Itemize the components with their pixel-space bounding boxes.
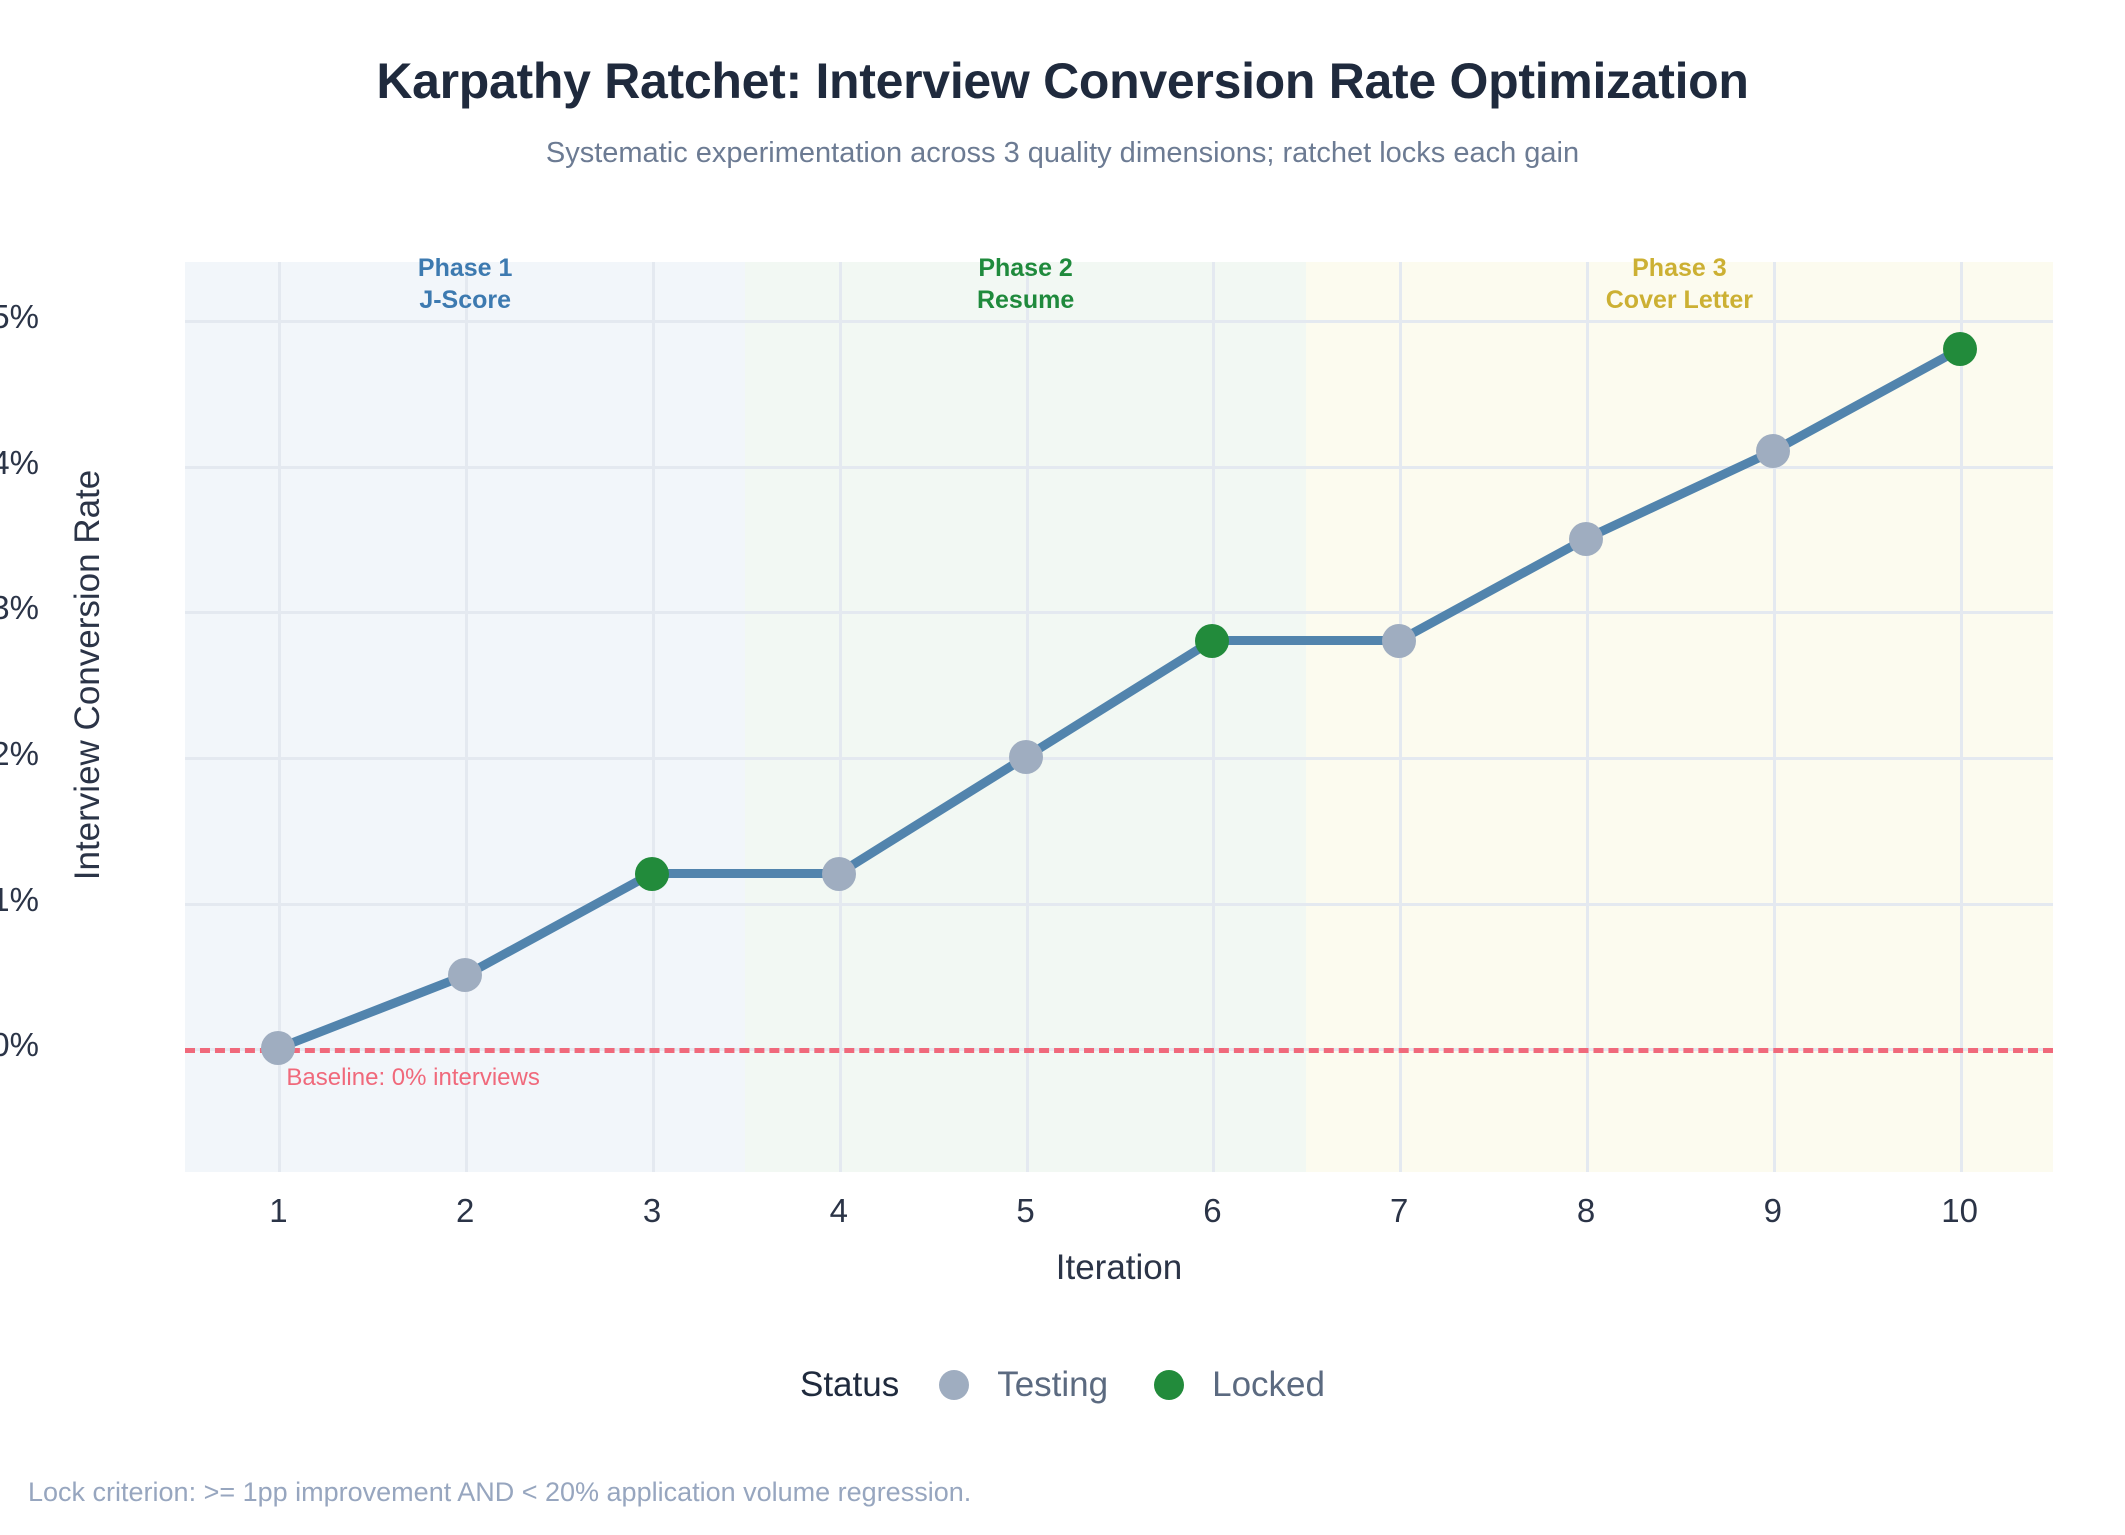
y-tick-label: 2%	[0, 735, 39, 773]
x-tick-label: 2	[405, 1192, 525, 1230]
x-axis-title: Iteration	[185, 1248, 2053, 1288]
x-tick-label: 7	[1339, 1192, 1459, 1230]
phase-label-3-sub: Cover Letter	[1479, 284, 1879, 316]
data-point-9[interactable]	[1756, 434, 1790, 468]
x-tick-label: 1	[218, 1192, 338, 1230]
x-tick-label: 3	[592, 1192, 712, 1230]
x-tick-label: 6	[1152, 1192, 1272, 1230]
y-tick-label: 4%	[0, 444, 39, 482]
x-tick-label: 4	[779, 1192, 899, 1230]
data-point-8[interactable]	[1569, 522, 1603, 556]
legend-items: TestingLocked	[939, 1365, 1325, 1405]
phase-label-1: Phase 1J-Score	[265, 252, 665, 316]
legend-title: Status	[800, 1365, 899, 1405]
data-point-2[interactable]	[448, 958, 482, 992]
phase-label-1-sub: J-Score	[265, 284, 665, 316]
legend-item-testing[interactable]: Testing	[939, 1365, 1108, 1405]
data-point-4[interactable]	[822, 857, 856, 891]
y-axis-title: Interview Conversion Rate	[68, 295, 108, 1055]
legend-label: Locked	[1212, 1365, 1325, 1405]
data-point-5[interactable]	[1009, 740, 1043, 774]
chart-title: Karpathy Ratchet: Interview Conversion R…	[0, 52, 2125, 110]
legend-label: Testing	[997, 1365, 1108, 1405]
legend-item-locked[interactable]: Locked	[1154, 1365, 1325, 1405]
legend-swatch-testing-icon	[939, 1370, 969, 1400]
x-tick-label: 5	[966, 1192, 1086, 1230]
conversion-rate-line	[278, 349, 1959, 1048]
chart-subtitle: Systematic experimentation across 3 qual…	[0, 137, 2125, 170]
footer-note: Lock criterion: >= 1pp improvement AND <…	[28, 1477, 971, 1508]
data-point-10[interactable]	[1943, 332, 1977, 366]
data-point-1[interactable]	[261, 1031, 295, 1065]
x-tick-label: 9	[1713, 1192, 1833, 1230]
plot-area: Baseline: 0% interviews Phase 1J-ScorePh…	[185, 262, 2053, 1172]
phase-label-2-sub: Resume	[826, 284, 1226, 316]
x-tick-label: 8	[1526, 1192, 1646, 1230]
y-tick-label: 1%	[0, 881, 39, 919]
x-tick-label: 10	[1900, 1192, 2020, 1230]
legend: Status TestingLocked	[0, 1365, 2125, 1405]
data-point-3[interactable]	[635, 857, 669, 891]
phase-label-1-title: Phase 1	[265, 252, 665, 284]
phase-label-3: Phase 3Cover Letter	[1479, 252, 1879, 316]
series-line	[185, 262, 2053, 1172]
phase-label-2: Phase 2Resume	[826, 252, 1226, 316]
legend-swatch-locked-icon	[1154, 1370, 1184, 1400]
data-point-7[interactable]	[1382, 624, 1416, 658]
data-point-6[interactable]	[1195, 624, 1229, 658]
y-tick-label: 0%	[0, 1026, 39, 1064]
y-tick-label: 5%	[0, 298, 39, 336]
phase-label-2-title: Phase 2	[826, 252, 1226, 284]
phase-label-3-title: Phase 3	[1479, 252, 1879, 284]
chart-root: Karpathy Ratchet: Interview Conversion R…	[0, 0, 2125, 1535]
y-tick-label: 3%	[0, 589, 39, 627]
